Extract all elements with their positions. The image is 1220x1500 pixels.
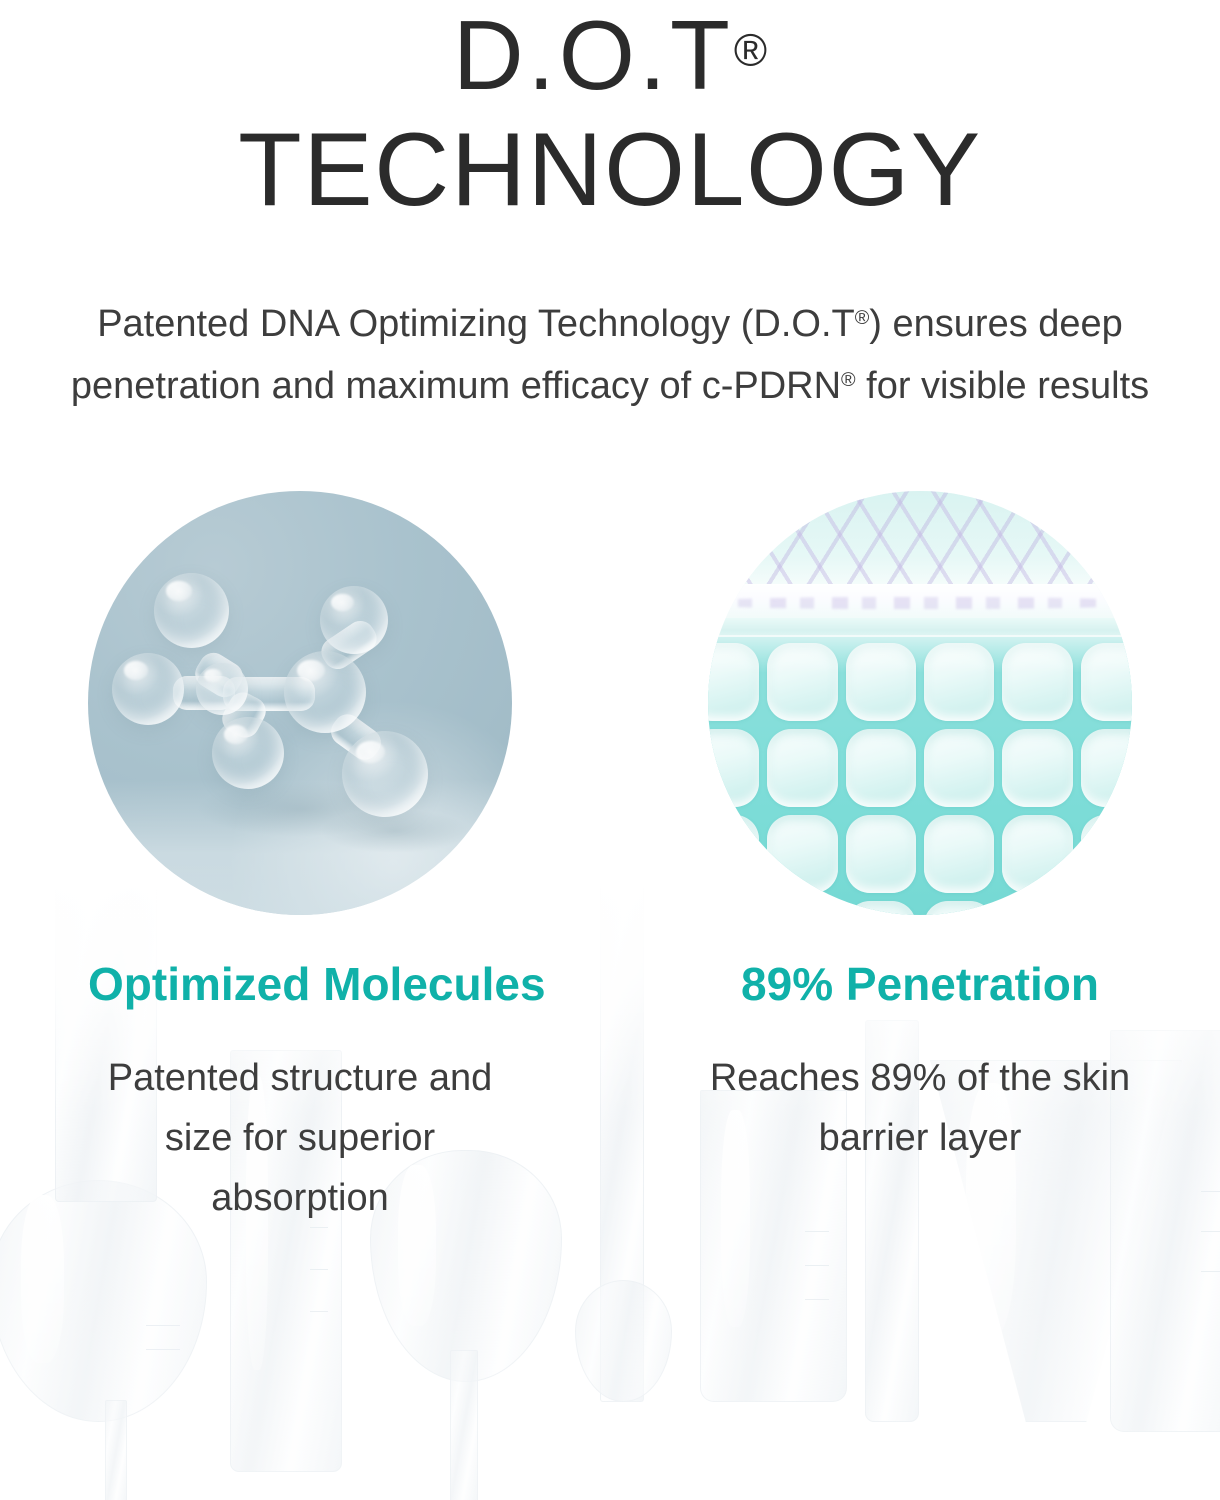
graduation-mark	[310, 1269, 328, 1270]
page-title-line-2: TECHNOLOGY	[0, 104, 1220, 222]
barrier-cell	[846, 815, 916, 893]
graduation-mark	[805, 1231, 828, 1232]
feature-optimized-molecules: Optimized Molecules Patented structure a…	[88, 491, 512, 1228]
barrier-cell	[1002, 901, 1072, 915]
feature-description-optimized-molecules: Patented structure and size for superior…	[88, 1010, 512, 1228]
graduation-mark	[805, 1299, 828, 1300]
barrier-cell	[924, 815, 994, 893]
barrier-cell	[924, 901, 994, 915]
molecule-atom	[320, 586, 388, 654]
dna-pattern-surface-layer	[708, 491, 1132, 584]
barrier-cell	[708, 901, 759, 915]
molecule-atom	[154, 573, 229, 648]
barrier-cell	[924, 643, 994, 721]
barrier-cell	[708, 643, 759, 721]
barrier-cell	[1002, 729, 1072, 807]
feature-penetration: 89% Penetration Reaches 89% of the skin …	[708, 491, 1132, 1228]
graduation-mark	[146, 1325, 180, 1326]
barrier-cell	[1081, 729, 1132, 807]
registered-trademark-icon: ®	[841, 368, 856, 390]
barrier-cell	[708, 729, 759, 807]
page-title-line-1: D.O.T®	[0, 4, 1220, 104]
barrier-cell	[1002, 643, 1072, 721]
registered-trademark-icon: ®	[734, 25, 767, 76]
barrier-cell	[1081, 901, 1132, 915]
skin-barrier-cell-grid	[708, 637, 1132, 915]
barrier-cell	[767, 643, 837, 721]
page-subtitle: Patented DNA Optimizing Technology (D.O.…	[0, 222, 1220, 417]
molecule-atom	[342, 731, 428, 817]
subtitle-part-3: for visible results	[856, 365, 1150, 407]
molecule-atom-large	[284, 651, 366, 733]
skin-penetration-image	[708, 491, 1132, 915]
barrier-cell	[767, 901, 837, 915]
molecule-atom	[212, 717, 284, 789]
barrier-cell	[1081, 815, 1132, 893]
optimized-molecules-image	[88, 491, 512, 915]
skin-surface-band	[708, 584, 1132, 618]
barrier-cell	[846, 901, 916, 915]
graduation-mark	[805, 1265, 828, 1266]
subtitle-part-1: Patented DNA Optimizing Technology (D.O.…	[97, 303, 855, 345]
molecule-atom-core	[196, 663, 248, 715]
graduation-mark	[146, 1349, 180, 1350]
barrier-cell	[767, 729, 837, 807]
glassware-stem	[105, 1400, 127, 1500]
feature-description-penetration: Reaches 89% of the skin barrier layer	[708, 1010, 1132, 1168]
feature-columns: Optimized Molecules Patented structure a…	[0, 491, 1220, 1228]
graduation-mark	[1201, 1231, 1220, 1232]
barrier-cell	[708, 815, 759, 893]
graduation-mark	[1201, 1271, 1220, 1272]
barrier-cell	[846, 643, 916, 721]
feature-title-penetration: 89% Penetration	[708, 915, 1132, 1010]
barrier-cell	[1002, 815, 1072, 893]
barrier-cell	[846, 729, 916, 807]
feature-title-optimized-molecules: Optimized Molecules	[88, 915, 512, 1010]
barrier-cell	[1081, 643, 1132, 721]
glassware-pipette-bulb	[575, 1280, 672, 1402]
molecule-atom	[112, 653, 184, 725]
page-title-text: D.O.T	[453, 0, 734, 110]
barrier-cell	[924, 729, 994, 807]
registered-trademark-icon: ®	[855, 307, 870, 329]
barrier-cell	[767, 815, 837, 893]
page-header: D.O.T® TECHNOLOGY	[0, 0, 1220, 222]
glassware-stem	[450, 1350, 478, 1500]
graduation-mark	[310, 1311, 328, 1312]
